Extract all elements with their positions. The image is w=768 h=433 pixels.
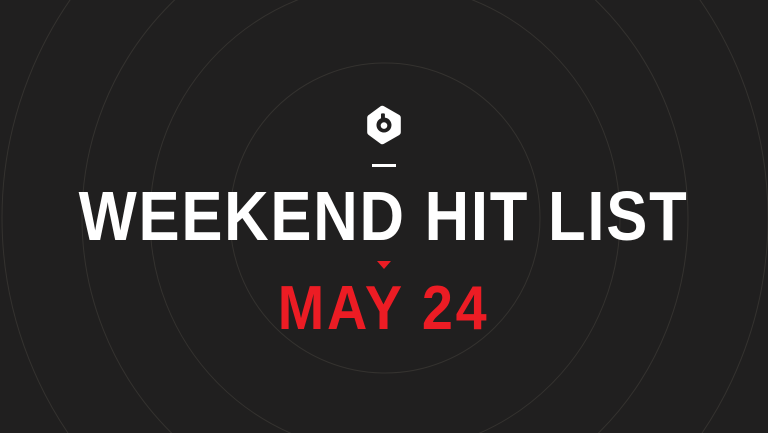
hexagon-b-icon bbox=[363, 104, 405, 146]
page-title: WEEKEND HIT LIST bbox=[79, 179, 689, 253]
email-hero-banner: WEEKEND HIT LIST MAY 24 bbox=[0, 0, 768, 433]
brand-logo[interactable] bbox=[363, 104, 405, 146]
divider-rule bbox=[372, 164, 396, 167]
chevron-down-icon bbox=[377, 261, 391, 269]
hero-content: WEEKEND HIT LIST MAY 24 bbox=[0, 0, 768, 433]
date-label: MAY 24 bbox=[278, 277, 490, 341]
